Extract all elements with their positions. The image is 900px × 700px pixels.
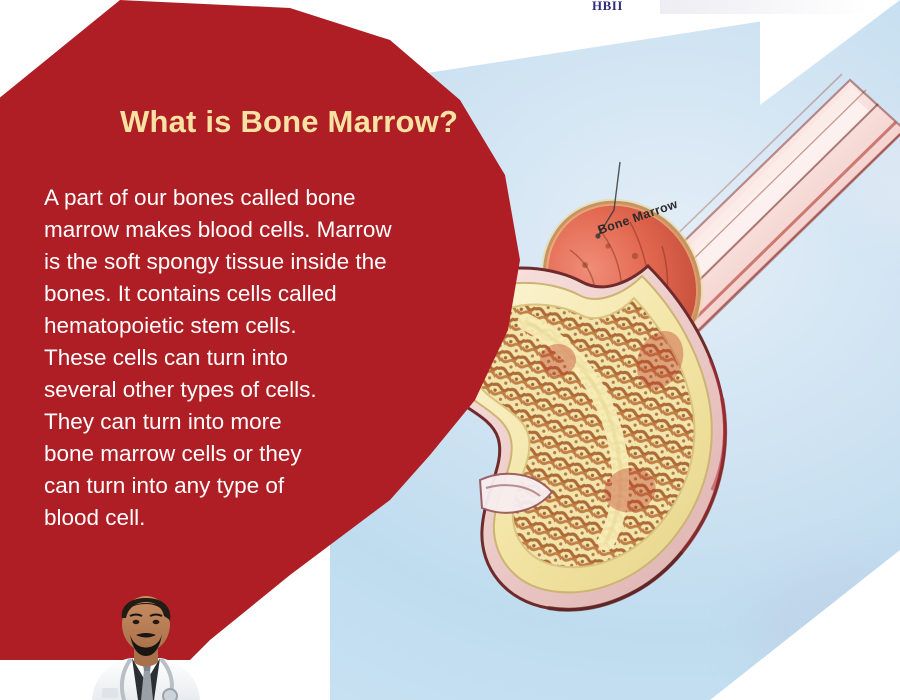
page-title: What is Bone Marrow? — [120, 104, 520, 140]
body-text: A part of our bones called bone marrow m… — [44, 182, 444, 534]
hbii-logo: HBII — [592, 0, 623, 14]
body-line: bones. It contains cells called — [44, 278, 444, 310]
body-line: marrow makes blood cells. Marrow — [44, 214, 444, 246]
body-line: blood cell. — [44, 502, 444, 534]
body-line: They can turn into more — [44, 406, 444, 438]
poster-canvas: Bone Marrow What is Bone Marrow? A part … — [0, 0, 900, 700]
presenter-photo — [78, 578, 214, 700]
logo-banner-fade — [660, 0, 870, 14]
body-line: is the soft spongy tissue inside the — [44, 246, 444, 278]
body-line: can turn into any type of — [44, 470, 444, 502]
body-line: bone marrow cells or they — [44, 438, 444, 470]
body-line: A part of our bones called bone — [44, 182, 444, 214]
body-line: several other types of cells. — [44, 374, 444, 406]
body-line: These cells can turn into — [44, 342, 444, 374]
body-line: hematopoietic stem cells. — [44, 310, 444, 342]
